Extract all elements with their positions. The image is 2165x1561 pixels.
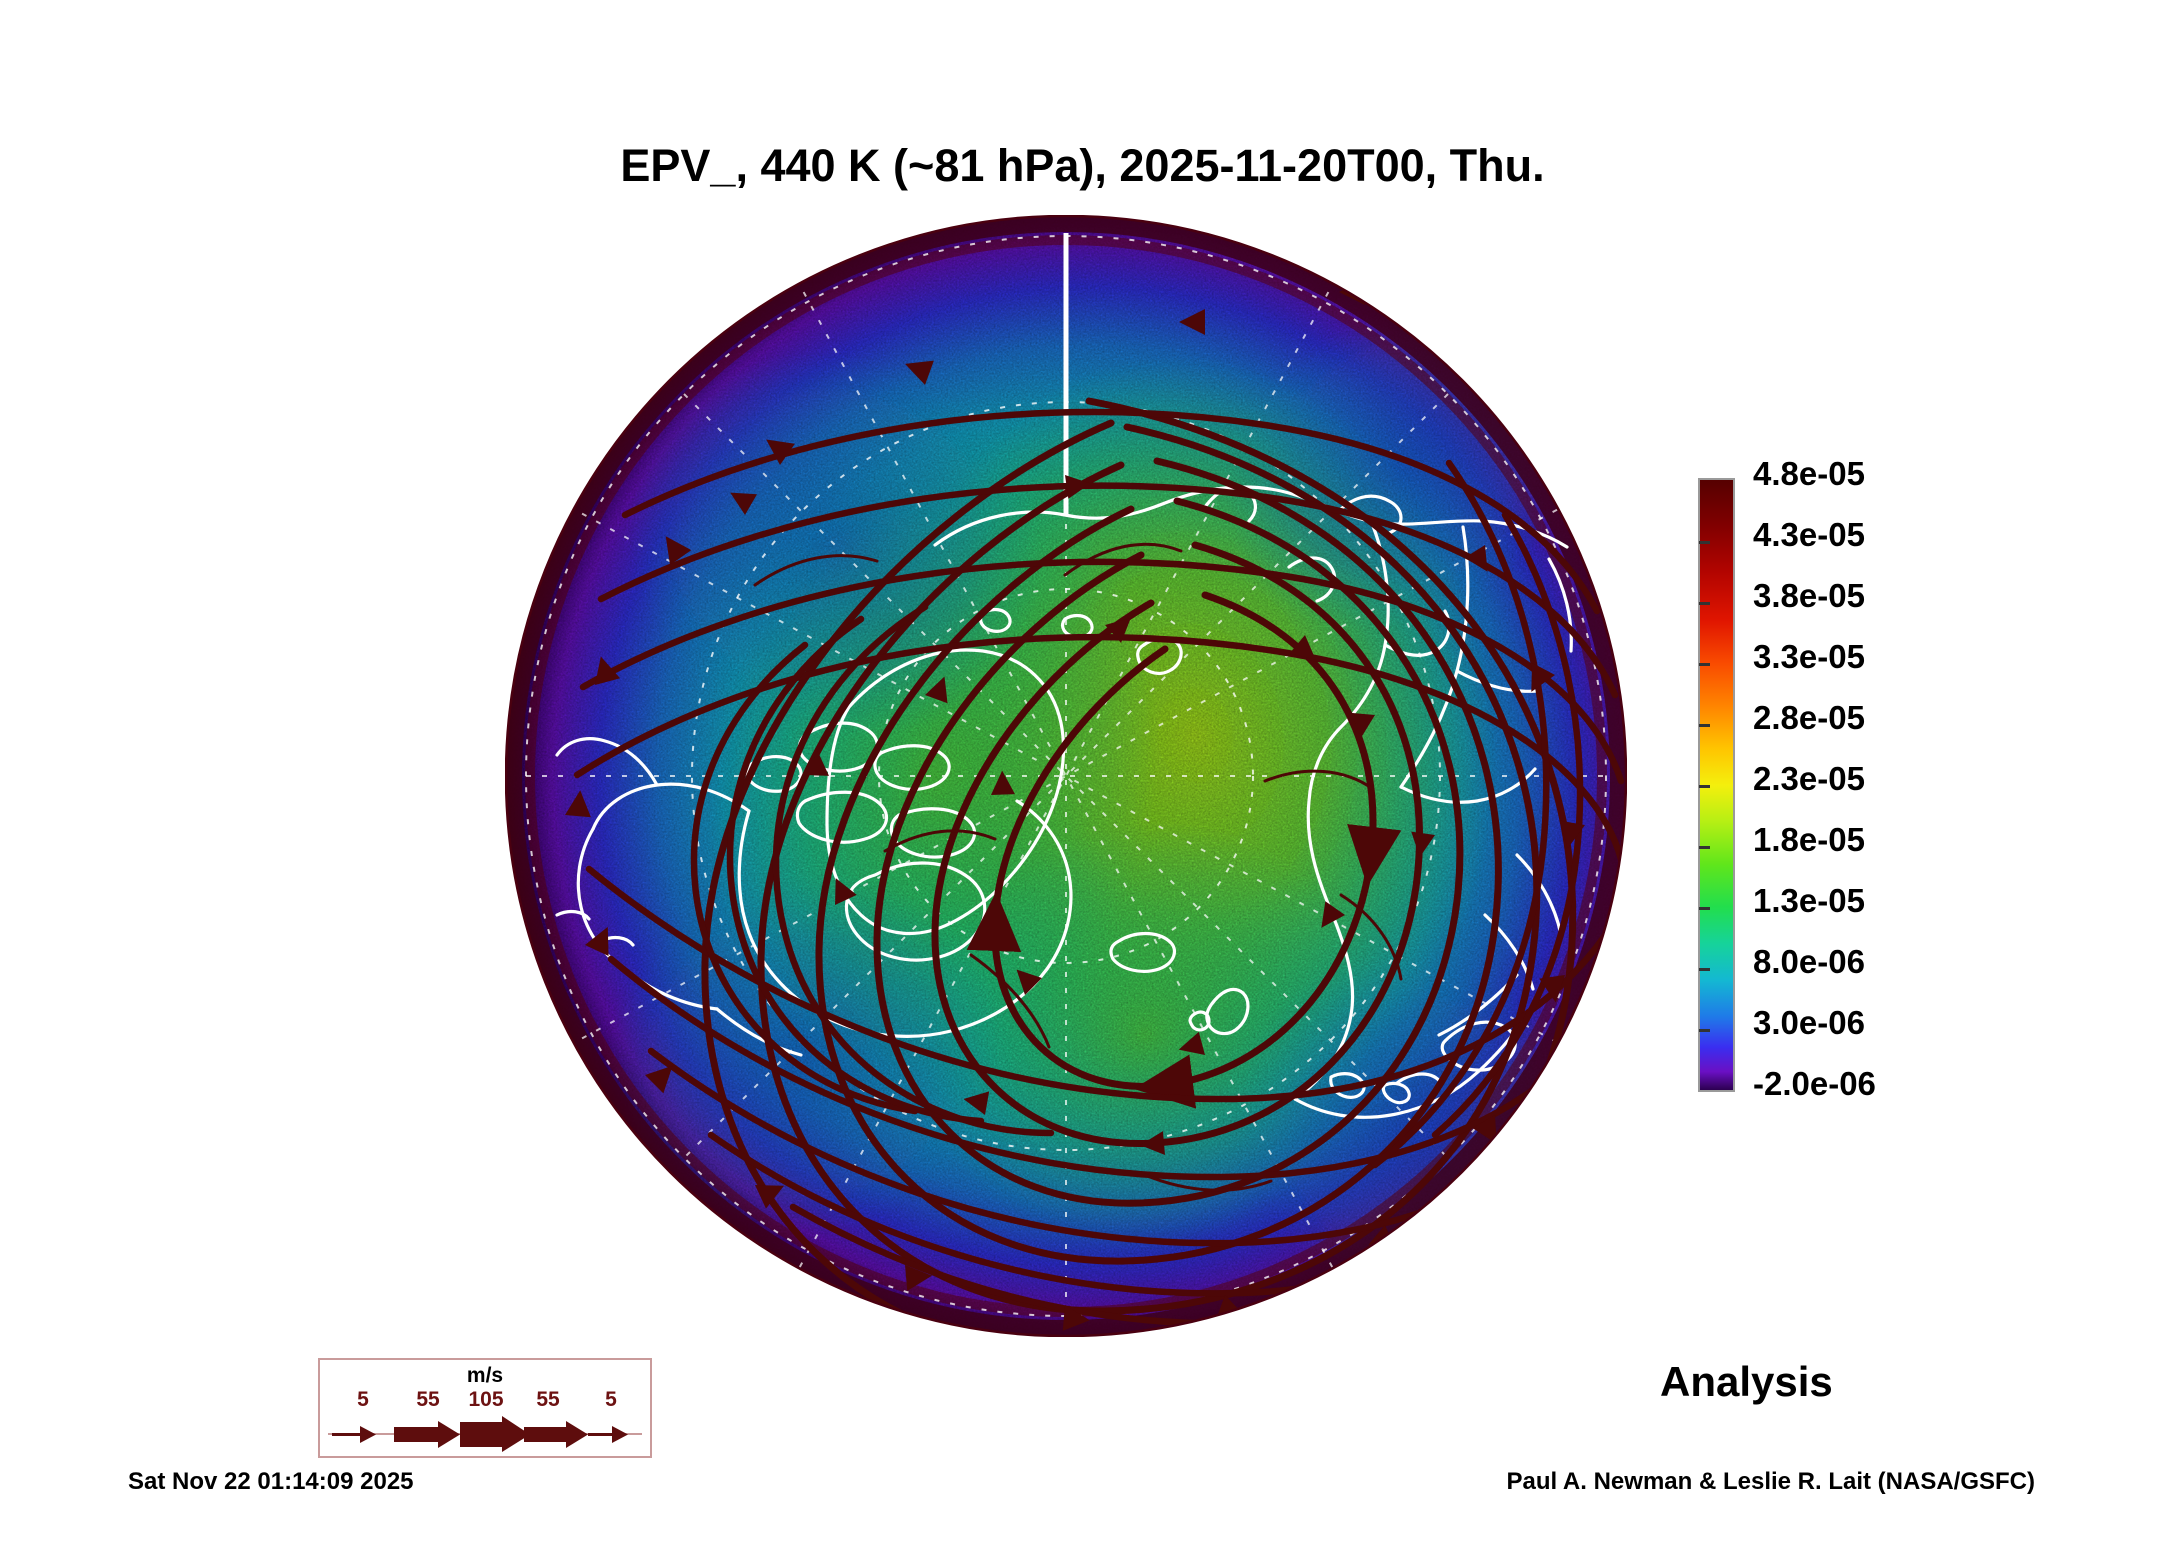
colorbar-tick: [1699, 846, 1710, 849]
polar-map-svg: [505, 215, 1627, 1337]
colorbar-tick: [1699, 541, 1710, 544]
colorbar-label: 1.8e-05: [1753, 821, 1865, 859]
wind-legend-units: m/s: [320, 1364, 650, 1388]
colorbar-tick: [1699, 602, 1710, 605]
author-credit: Paul A. Newman & Leslie R. Lait (NASA/GS…: [1506, 1468, 2035, 1496]
colorbar: 4.8e-05 4.3e-05 3.8e-05 3.3e-05 2.8e-05 …: [1698, 478, 1735, 1092]
polar-map: [505, 215, 1627, 1337]
wind-speed-legend: m/s 5 55 105 55 5: [318, 1358, 652, 1458]
colorbar-label: 4.8e-05: [1753, 455, 1865, 493]
colorbar-label: 1.3e-05: [1753, 882, 1865, 920]
colorbar-tick: [1699, 663, 1710, 666]
wind-legend-tick: 55: [536, 1388, 559, 1412]
colorbar-label: 8.0e-06: [1753, 943, 1865, 981]
render-timestamp: Sat Nov 22 01:14:09 2025: [128, 1468, 414, 1496]
wind-legend-ticks: 5 55 105 55 5: [320, 1388, 650, 1414]
figure-canvas: EPV_, 440 K (~81 hPa), 2025-11-20T00, Th…: [0, 0, 2165, 1561]
colorbar-label: -2.0e-06: [1753, 1065, 1876, 1103]
wind-legend-arrows: [320, 1416, 650, 1452]
colorbar-label: 3.8e-05: [1753, 577, 1865, 615]
colorbar-label: 3.3e-05: [1753, 638, 1865, 676]
wind-legend-tick: 5: [605, 1388, 617, 1412]
wind-legend-tick: 105: [468, 1388, 503, 1412]
colorbar-tick: [1699, 907, 1710, 910]
colorbar-label: 2.8e-05: [1753, 699, 1865, 737]
wind-legend-tick: 5: [357, 1388, 369, 1412]
analysis-label: Analysis: [1660, 1358, 2000, 1406]
colorbar-tick: [1699, 724, 1710, 727]
page-title: EPV_, 440 K (~81 hPa), 2025-11-20T00, Th…: [0, 140, 2165, 192]
wind-legend-tick: 55: [416, 1388, 439, 1412]
colorbar-tick: [1699, 1029, 1710, 1032]
colorbar-label: 4.3e-05: [1753, 516, 1865, 554]
colorbar-label: 2.3e-05: [1753, 760, 1865, 798]
colorbar-tick: [1699, 968, 1710, 971]
colorbar-tick: [1699, 785, 1710, 788]
map-field: [505, 215, 1627, 1337]
colorbar-label: 3.0e-06: [1753, 1004, 1865, 1042]
colorbar-gradient: [1698, 478, 1735, 1092]
